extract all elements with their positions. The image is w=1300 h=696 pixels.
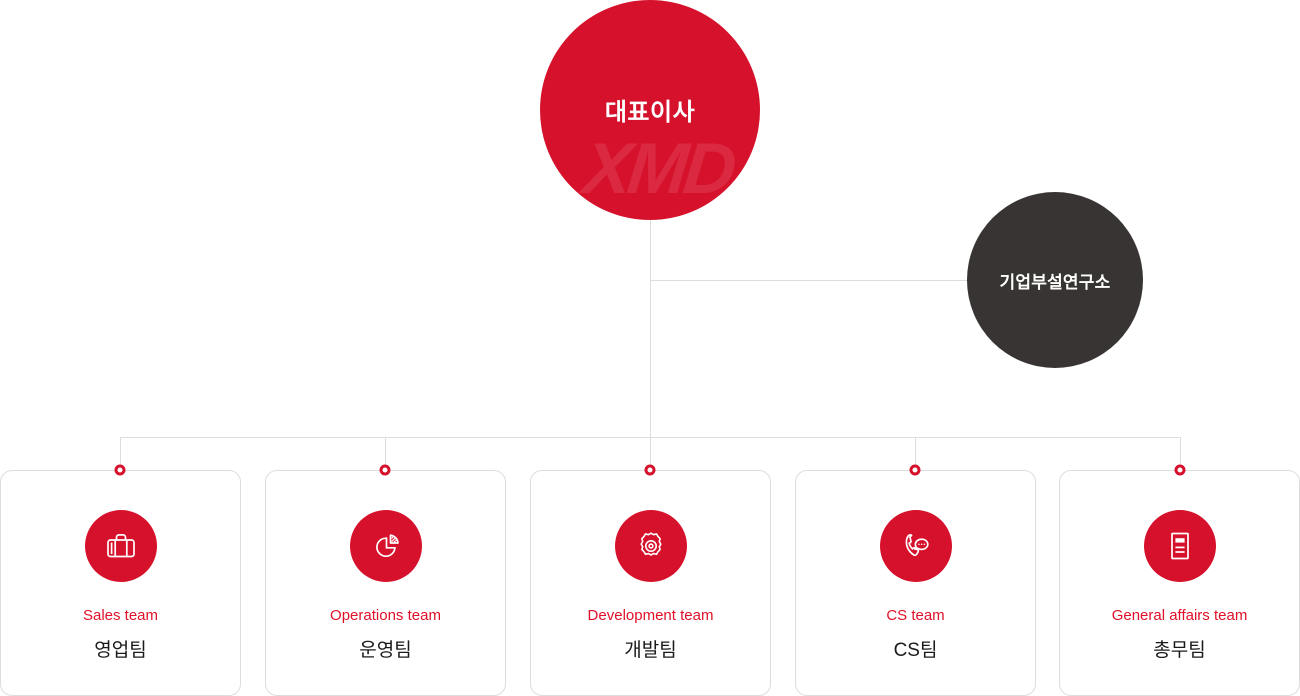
team-icon-circle-operations [350,510,422,582]
pie-chart-icon [369,529,403,563]
briefcase-icon [104,529,138,563]
node-research-institute-label: 기업부설연구소 [1000,268,1111,293]
team-card-development[interactable]: Development team 개발팀 [530,470,771,696]
node-ceo-label: 대표이사 [605,92,695,127]
gear-icon [634,529,668,563]
team-label-ko-general-affairs: 총무팀 [1153,641,1205,660]
connector-dot-cs [910,465,921,476]
document-icon [1163,529,1197,563]
team-label-en-operations: Operations team [330,608,441,623]
team-card-operations[interactable]: Operations team 운영팀 [265,470,506,696]
connector-dot-development [645,465,656,476]
team-label-en-sales: Sales team [83,608,158,623]
team-icon-circle-sales [85,510,157,582]
connector-dot-sales [115,465,126,476]
team-icon-circle-cs [880,510,952,582]
team-icon-circle-general-affairs [1144,510,1216,582]
node-research-institute[interactable]: 기업부설연구소 [967,192,1143,368]
ceo-watermark-text: XMD [580,128,737,210]
team-label-ko-operations: 운영팀 [359,641,411,660]
team-icon-circle-development [615,510,687,582]
connector-dot-general-affairs [1175,465,1186,476]
phone-chat-icon [899,529,933,563]
team-card-cs[interactable]: CS team CS팀 [795,470,1036,696]
connector-line-to-research-institute [650,280,970,281]
connector-dot-operations [380,465,391,476]
team-label-en-cs: CS team [886,608,944,623]
team-label-ko-cs: CS팀 [894,641,938,660]
node-ceo[interactable]: XMD 대표이사 [540,0,760,220]
team-card-general-affairs[interactable]: General affairs team 총무팀 [1059,470,1300,696]
team-label-en-general-affairs: General affairs team [1112,608,1248,623]
organization-chart: XMD 대표이사 기업부설연구소 Sales team 영업팀 [0,0,1300,696]
team-label-ko-sales: 영업팀 [94,641,146,660]
team-label-ko-development: 개발팀 [624,641,676,660]
team-label-en-development: Development team [588,608,714,623]
team-card-sales[interactable]: Sales team 영업팀 [0,470,241,696]
connector-line-root-trunk [650,220,651,438]
